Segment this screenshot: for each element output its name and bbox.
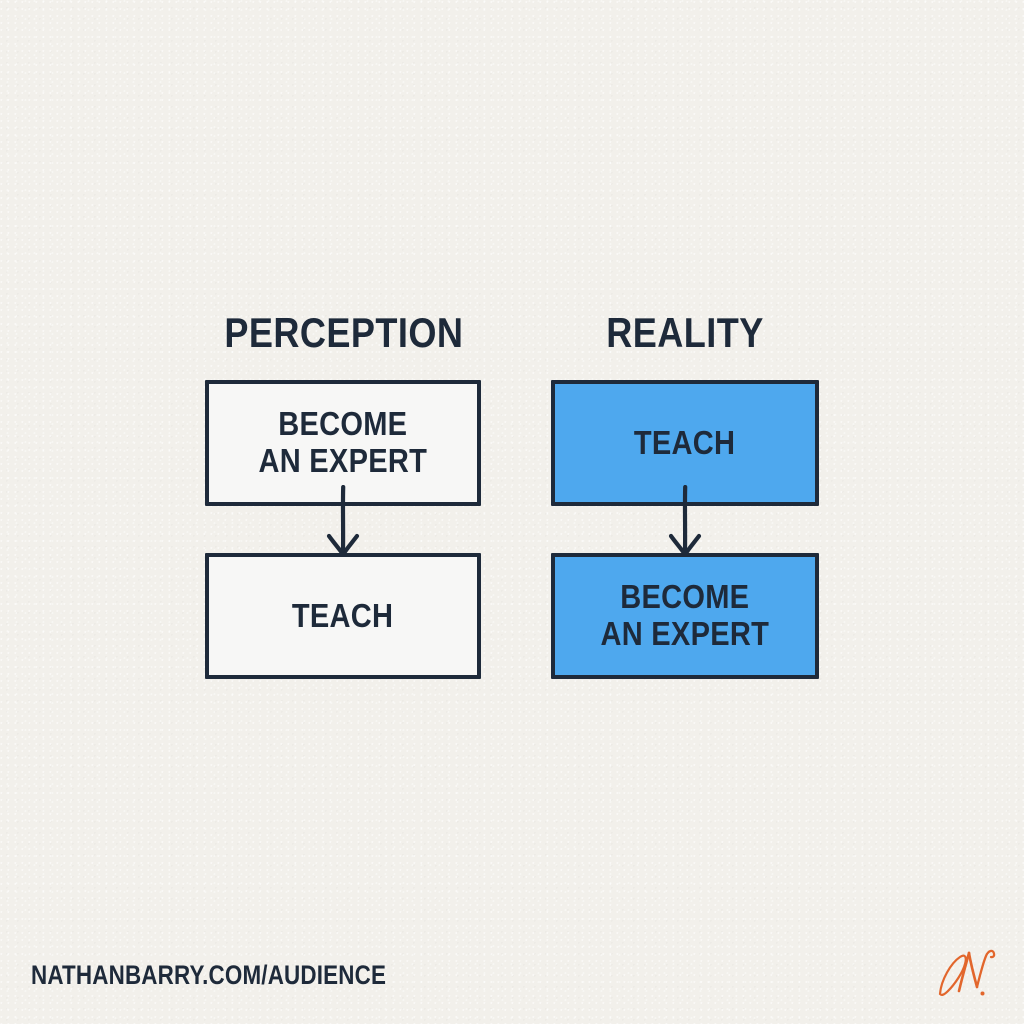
column-header-perception: PERCEPTION [224, 312, 461, 354]
flow-box-label: TEACH [634, 425, 735, 462]
flow-box-label: TEACH [292, 598, 393, 635]
flow-box-label: BECOME AN EXPERT [259, 406, 428, 480]
flow-box-perception-step-2: TEACH [205, 553, 481, 679]
signature-logo-icon [934, 944, 1004, 1006]
column-header-reality: REALITY [570, 312, 800, 354]
footer-url-text: NATHANBARRY.COM/AUDIENCE [31, 962, 386, 989]
poster-canvas: PERCEPTION REALITY BECOME AN EXPERT TEAC… [0, 0, 1024, 1024]
flow-box-reality-step-2: BECOME AN EXPERT [551, 553, 819, 679]
flow-box-label: BECOME AN EXPERT [601, 579, 770, 653]
